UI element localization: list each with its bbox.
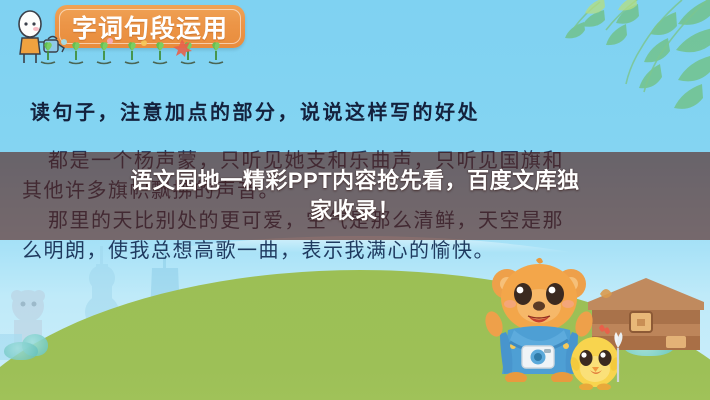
promo-line-2: 家收录！ (310, 196, 400, 226)
promo-line-1: 语文园地一精彩PPT内容抢先看，百度文库独 (130, 166, 579, 196)
ppt-slide-preview: 字词句段运用 (0, 0, 710, 400)
banner-title: 字词句段运用 (55, 5, 245, 48)
promo-overlay-text: 语文园地一精彩PPT内容抢先看，百度文库独 家收录！ (0, 152, 710, 240)
instruction-text: 读句子，注意加点的部分，说说这样写的好处 (30, 96, 480, 125)
title-banner: 字词句段运用 (55, 5, 245, 48)
bush-icon (4, 342, 38, 360)
chick-mascot-icon (566, 322, 628, 390)
leaf-branch-icon (564, 0, 710, 124)
